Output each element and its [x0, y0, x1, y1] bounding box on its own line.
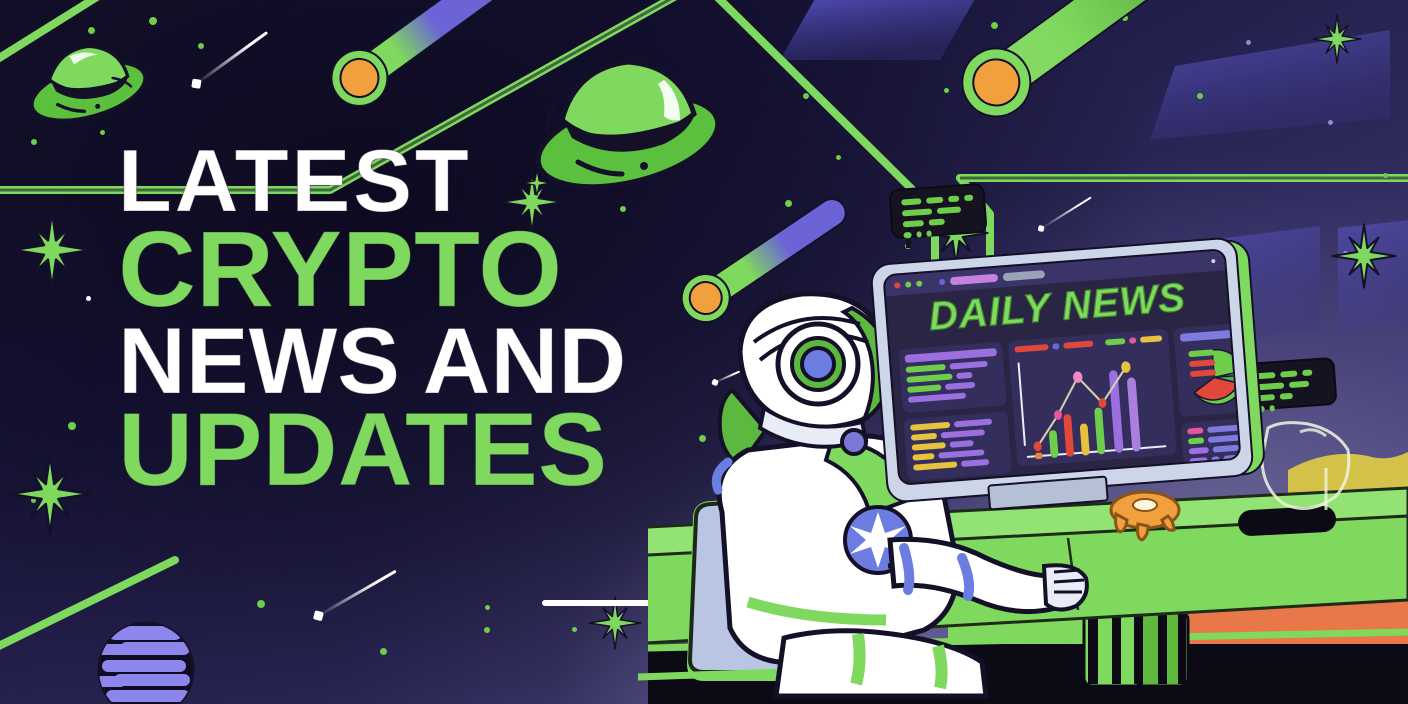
- star-dot: [572, 627, 577, 632]
- chrome-dot-green[interactable]: [905, 281, 911, 287]
- banner-stage: DAILY NEWS: [0, 0, 1408, 704]
- legend-chip: [1129, 337, 1136, 344]
- striped-planet-icon: [96, 620, 196, 704]
- row-bar: [1180, 330, 1232, 342]
- row-bar: [906, 373, 952, 383]
- chart-legend-right: [1188, 349, 1216, 377]
- astronaut-workstation-scene: DAILY NEWS: [648, 0, 1408, 704]
- row-bar: [913, 461, 957, 470]
- row-bar: [945, 382, 975, 390]
- chrome-dot-blue[interactable]: [939, 279, 945, 285]
- row-bar: [1213, 445, 1239, 453]
- legend-chip: [1188, 349, 1214, 357]
- row-bar: [941, 429, 985, 438]
- star-dot: [68, 422, 76, 430]
- headline-line-3: NEWS AND: [118, 320, 626, 403]
- legend-chip: [1052, 343, 1059, 350]
- star-dot: [31, 139, 37, 145]
- row-bar: [910, 422, 950, 431]
- chrome-tab-pill[interactable]: [950, 274, 998, 286]
- row-bar: [911, 433, 937, 441]
- chrome-dot-green[interactable]: [916, 280, 922, 286]
- chart-panel[interactable]: [1008, 329, 1177, 467]
- star-dot: [86, 296, 91, 301]
- legend-chip: [1140, 335, 1162, 343]
- chrome-menu-dot[interactable]: [1211, 259, 1215, 263]
- chart-svg: [1015, 347, 1170, 460]
- row-bar: [961, 459, 989, 467]
- row-bar: [912, 442, 946, 451]
- legend-chip: [1105, 338, 1125, 346]
- tag-chip: [1187, 427, 1203, 434]
- sparkle-star-icon: [12, 210, 92, 290]
- chrome-dot-red[interactable]: [894, 282, 900, 288]
- page-title: LATEST CRYPTO NEWS AND UPDATES: [118, 142, 626, 497]
- star-dot: [149, 17, 157, 25]
- star-dot: [380, 648, 387, 655]
- headline-line-2: CRYPTO: [118, 221, 626, 316]
- left-panel-bottom[interactable]: [904, 411, 1012, 481]
- monitor: DAILY NEWS: [878, 0, 1270, 270]
- row-bar: [949, 440, 973, 448]
- star-dot: [484, 627, 490, 633]
- star-dot: [485, 605, 490, 610]
- dashboard-left-column: [898, 342, 1011, 476]
- chrome-url-pill[interactable]: [1003, 270, 1045, 281]
- row-bar: [954, 419, 992, 428]
- row-bar: [949, 361, 987, 370]
- dashboard-right-column: [1173, 319, 1241, 454]
- star-dot: [198, 43, 204, 49]
- legend-chip: [1189, 359, 1215, 367]
- legend-chip: [1014, 344, 1048, 353]
- left-panel-top[interactable]: [898, 342, 1007, 414]
- row-bar: [908, 392, 966, 402]
- ufo-icon: [26, 28, 151, 128]
- legend-chip: [1063, 341, 1093, 349]
- dashboard-grid: [898, 325, 1231, 475]
- row-bar: [1208, 435, 1240, 443]
- monitor-screen[interactable]: DAILY NEWS: [882, 248, 1241, 486]
- row-bar: [1207, 424, 1242, 433]
- star-dot: [100, 130, 105, 135]
- headline-line-4: UPDATES: [118, 405, 626, 497]
- row-bar: [1189, 447, 1209, 455]
- row-bar: [938, 449, 984, 459]
- row-bar: [907, 384, 941, 393]
- row-bar: [906, 364, 946, 373]
- star-dot: [257, 600, 265, 608]
- row-bar: [956, 372, 972, 379]
- tag-chip: [1188, 437, 1204, 444]
- row-bar: [912, 453, 934, 461]
- sparkle-star-icon: [8, 452, 92, 536]
- combo-chart[interactable]: [1015, 347, 1170, 460]
- glass-vessel: [1248, 420, 1368, 550]
- gold-coin-object: [1100, 478, 1190, 548]
